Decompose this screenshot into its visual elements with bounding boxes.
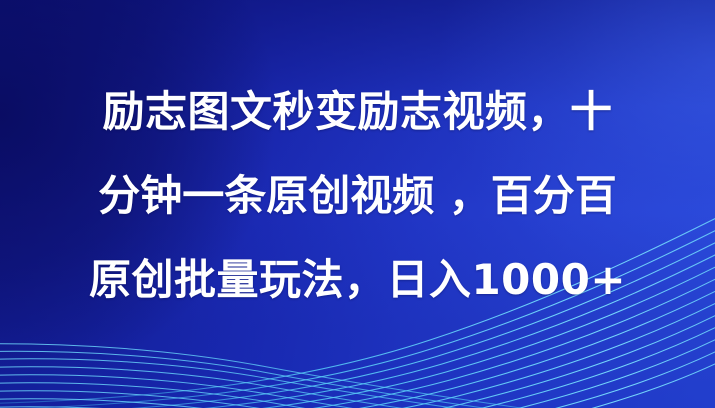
promo-banner: 励志图文秒变励志视频，十 分钟一条原创视频 ，百分百 原创批量玩法，日入1000…	[0, 0, 715, 408]
headline-block: 励志图文秒变励志视频，十 分钟一条原创视频 ，百分百 原创批量玩法，日入1000…	[0, 70, 715, 322]
headline-line-2: 分钟一条原创视频 ，百分百	[30, 154, 685, 238]
headline-line-1: 励志图文秒变励志视频，十	[30, 70, 685, 154]
headline-line-3: 原创批量玩法，日入1000+	[30, 238, 685, 322]
wave-lines-left-arc	[0, 344, 715, 408]
